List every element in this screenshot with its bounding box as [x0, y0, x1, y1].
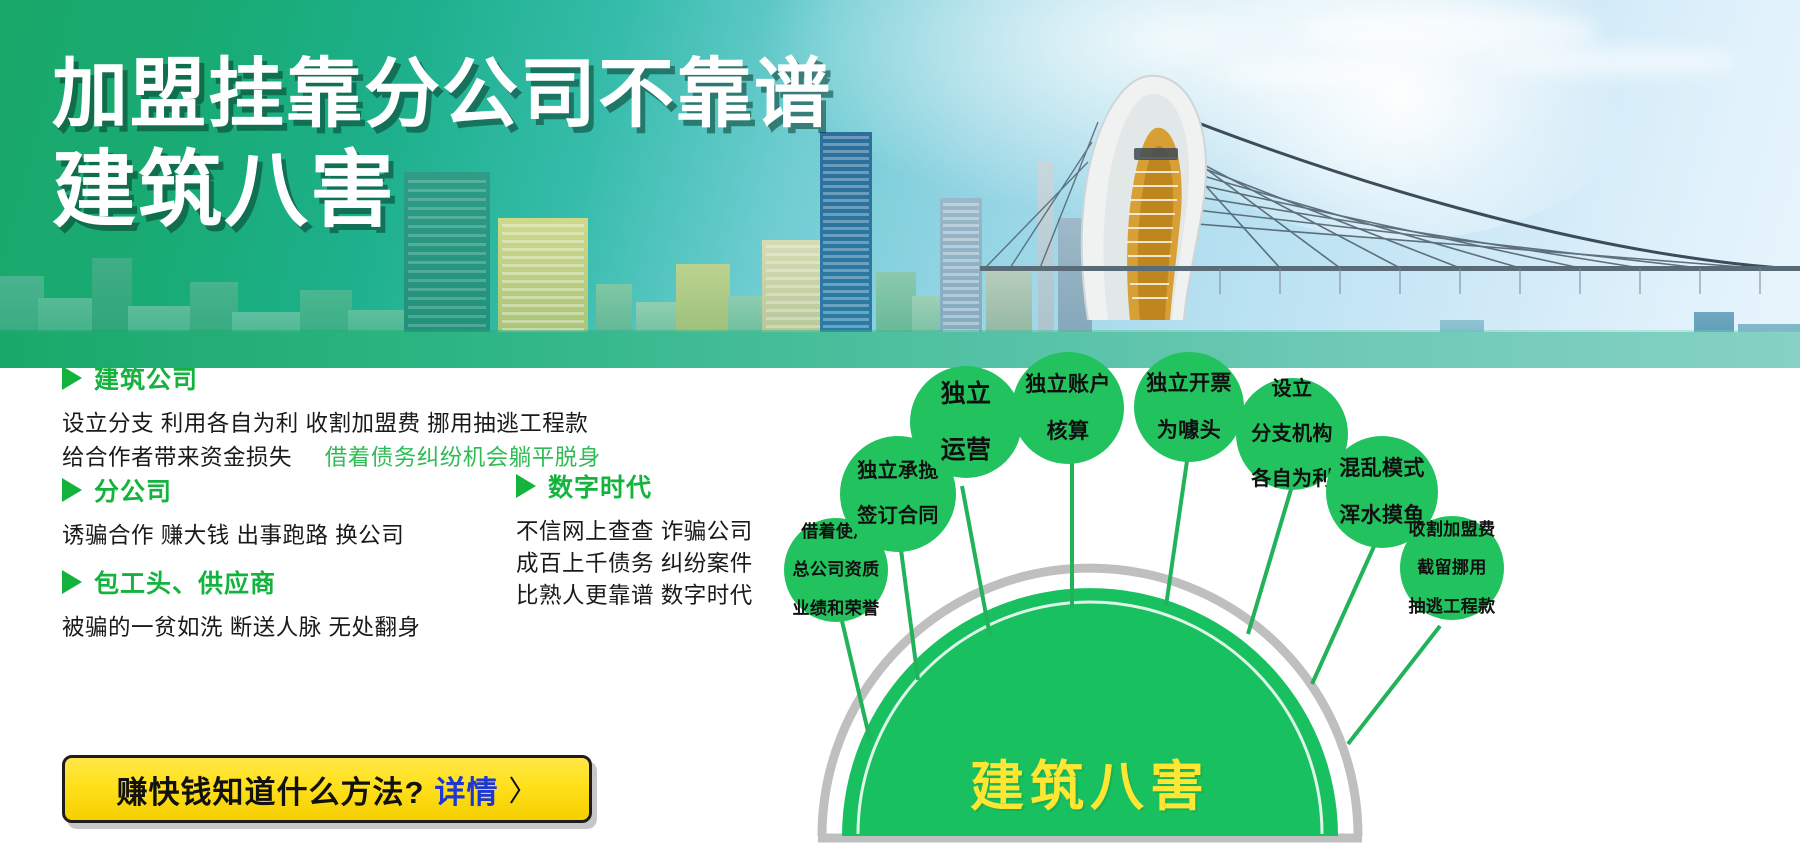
- cta-main-label: 赚快钱知道什么方法?: [117, 767, 425, 812]
- section-header: 数字时代: [516, 468, 753, 504]
- section-body-text: 诱骗合作 赚大钱 出事跑路 换公司: [62, 523, 404, 548]
- section-body-line: 被骗的一贫如洗 断送人脉 无处翻身: [62, 612, 421, 644]
- section-body-line: 不信网上查查 诈骗公司: [516, 516, 753, 548]
- bubble-independent-operation[interactable]: 独立运营: [910, 366, 1022, 478]
- cloud-shape: [1300, 10, 1600, 52]
- poster-root: 加盟挂靠分公司不靠谱 建筑八害 建筑公司 设立分支 利用各自为利 收割加盟费 挪…: [0, 0, 1800, 844]
- bubble-independent-invoicing[interactable]: 独立开票为噱头: [1134, 352, 1244, 462]
- cta-button[interactable]: 赚快钱知道什么方法? 详情 〉: [62, 755, 592, 823]
- section-title: 建筑公司: [94, 360, 198, 396]
- triangle-bullet-icon: [62, 366, 82, 390]
- section-title: 包工头、供应商: [94, 564, 276, 600]
- cta-more-link[interactable]: 详情: [434, 767, 498, 812]
- triangle-bullet-icon: [516, 474, 536, 498]
- section-body-text: 比熟人更靠谱 数字时代: [516, 583, 753, 608]
- section-title: 数字时代: [548, 468, 652, 504]
- section-body-line: 诱骗合作 赚大钱 出事跑路 换公司: [62, 520, 404, 552]
- hero-banner: 加盟挂靠分公司不靠谱 建筑八害: [0, 0, 1800, 368]
- bubble-text: 独立运营: [933, 380, 1000, 464]
- arch-center-label: 建筑八害: [970, 742, 1190, 821]
- section-header: 包工头、供应商: [62, 564, 421, 600]
- section-branch-company: 分公司 诱骗合作 赚大钱 出事跑路 换公司: [62, 472, 404, 552]
- section-header: 分公司: [62, 472, 404, 508]
- triangle-bullet-icon: [62, 478, 82, 502]
- section-construction-company: 建筑公司 设立分支 利用各自为利 收割加盟费 挪用抽逃工程款 诱骗合作 赚大钱 …: [62, 360, 601, 474]
- section-title: 分公司: [94, 472, 172, 508]
- section-body-accent: 借着债务纠纷机会躺平脱身: [325, 445, 601, 470]
- chevron-right-icon: 〉: [508, 768, 537, 810]
- section-contractor-supplier: 包工头、供应商 被骗的一贫如洗 断送人脉 无处翻身: [62, 564, 421, 644]
- section-digital-era: 数字时代 不信网上查查 诈骗公司 成百上千债务 纠纷案件 比熟人更靠谱 数字时代: [516, 468, 753, 612]
- hero-title: 加盟挂靠分公司不靠谱 建筑八害: [52, 55, 832, 235]
- section-body-text: 成百上千债务 纠纷案件: [516, 551, 753, 576]
- triangle-bullet-icon: [62, 570, 82, 594]
- bubble-text: 独立账户核算: [1017, 373, 1119, 444]
- bubble-text: 设立分支机构各自为利: [1243, 378, 1341, 490]
- section-body-line: 比熟人更靠谱 数字时代: [516, 580, 753, 612]
- bazhai-diagram: 建筑八害 借着使用总公司资质业绩和荣誉 独立承揽签订合同 独立运营 独立账户核算…: [800, 336, 1800, 844]
- bubble-text: 独立开票为噱头: [1138, 372, 1240, 443]
- section-body-text: 不信网上查查 诈骗公司: [516, 519, 753, 544]
- section-header: 建筑公司: [62, 360, 601, 396]
- hero-title-line-1: 加盟挂靠分公司不靠谱: [52, 55, 832, 136]
- section-body-text: 设立分支 利用各自为利 收割加盟费 挪用抽逃工程款: [62, 411, 588, 436]
- section-body-line: 成百上千债务 纠纷案件: [516, 548, 753, 580]
- bubble-text: 收割加盟费截留挪用抽逃工程款: [1401, 520, 1504, 615]
- section-body-text: 给合作者带来资金损失: [62, 445, 292, 470]
- bubble-text: 混乱模式浑水摸鱼: [1331, 457, 1433, 528]
- bubble-text: 独立承揽签订合同: [849, 460, 947, 527]
- section-body-line: 设立分支 利用各自为利 收割加盟费 挪用抽逃工程款: [62, 408, 601, 440]
- section-body-text: 被骗的一贫如洗 断送人脉 无处翻身: [62, 615, 421, 640]
- bubble-independent-account[interactable]: 独立账户核算: [1012, 352, 1124, 464]
- bubble-harvest-franchise-fees[interactable]: 收割加盟费截留挪用抽逃工程款: [1400, 516, 1504, 620]
- hero-title-line-2: 建筑八害: [52, 146, 832, 235]
- bridge-illustration: [980, 62, 1800, 332]
